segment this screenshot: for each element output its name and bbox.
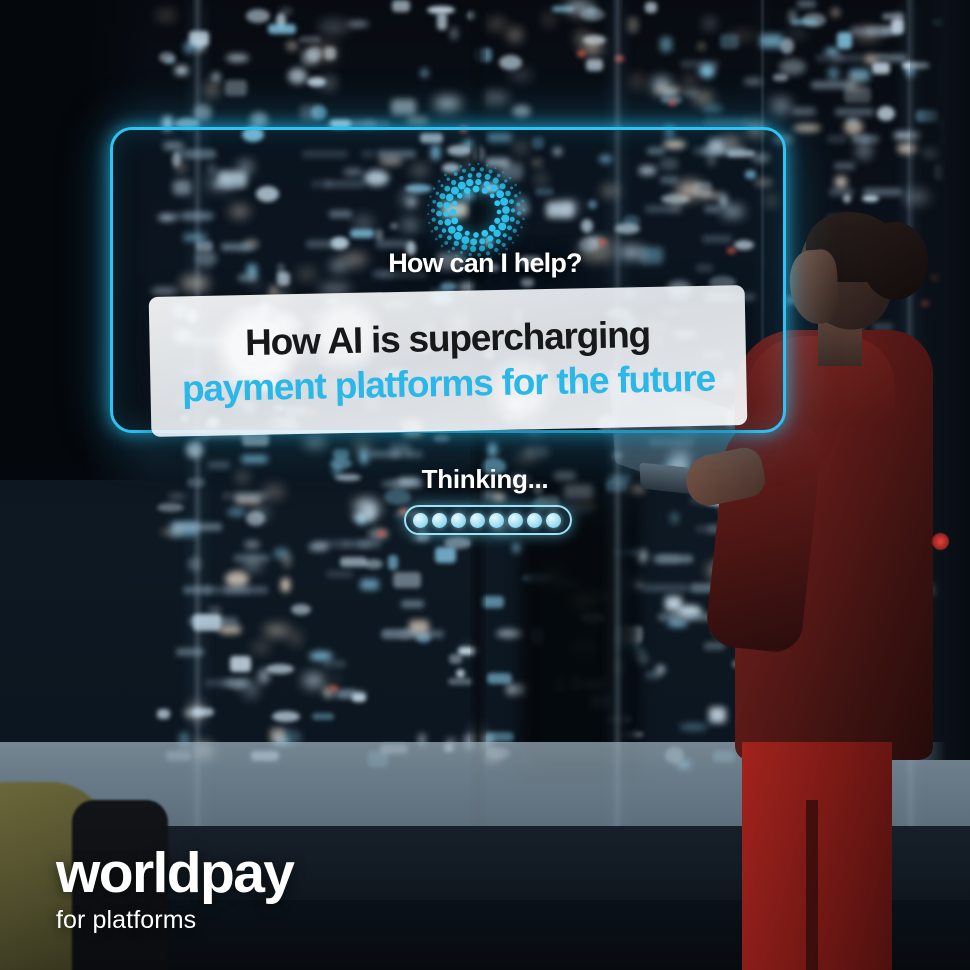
city-light — [320, 21, 347, 33]
progress-dot — [546, 513, 561, 528]
city-light — [157, 709, 170, 719]
city-light-accent — [577, 50, 586, 57]
city-light — [566, 2, 591, 12]
city-light — [311, 105, 327, 120]
city-light — [450, 27, 458, 40]
city-light — [212, 72, 220, 82]
city-light — [586, 59, 603, 71]
city-light — [628, 17, 638, 33]
person-leg-split — [806, 800, 818, 970]
city-light — [544, 12, 554, 27]
headline-line-2: payment platforms for the future — [182, 359, 716, 409]
progress-dot — [470, 513, 485, 528]
city-light — [437, 13, 447, 30]
city-light — [709, 707, 726, 723]
city-light — [392, 0, 410, 12]
red-indicator-light — [932, 533, 949, 550]
progress-dot — [413, 513, 428, 528]
city-light — [645, 2, 657, 13]
city-light — [246, 9, 270, 23]
city-light — [288, 68, 307, 84]
city-light — [156, 11, 176, 20]
city-light — [488, 19, 505, 29]
headline-card: How AI is supercharging payment platform… — [149, 285, 748, 437]
city-light — [272, 711, 300, 722]
promo-image-stage: How can I help? How AI is supercharging … — [0, 0, 970, 970]
city-light — [510, 71, 532, 79]
city-light — [280, 8, 292, 15]
headline-line-1: How AI is supercharging — [245, 315, 651, 362]
city-light — [307, 47, 322, 61]
city-light — [421, 69, 428, 77]
city-light — [299, 36, 321, 43]
city-light — [250, 112, 268, 128]
worldpay-logo: worldpay for platforms — [56, 845, 293, 935]
city-light — [449, 654, 462, 664]
assistant-status-label: Thinking... — [0, 464, 970, 495]
city-light — [482, 93, 509, 103]
city-light — [286, 41, 298, 51]
city-light — [427, 6, 455, 14]
progress-dot — [432, 513, 447, 528]
city-light — [268, 24, 296, 34]
city-light — [456, 669, 465, 678]
city-light — [705, 19, 714, 28]
city-light — [175, 66, 188, 75]
city-light — [660, 37, 672, 52]
city-light — [347, 21, 369, 27]
city-light — [488, 442, 497, 457]
city-light — [292, 631, 300, 646]
city-light — [225, 80, 247, 96]
city-light — [728, 32, 756, 39]
thinking-progress-bar — [404, 505, 572, 535]
city-light — [493, 494, 506, 501]
progress-dot — [489, 513, 504, 528]
progress-dot — [451, 513, 466, 528]
assistant-prompt-text: How can I help? — [0, 248, 970, 279]
logo-tagline: for platforms — [56, 906, 293, 935]
city-light — [512, 105, 531, 117]
progress-dot — [527, 513, 542, 528]
city-light — [281, 578, 290, 592]
city-light — [486, 732, 514, 742]
logo-brand-name: worldpay — [56, 845, 293, 902]
city-light — [391, 99, 416, 115]
city-light — [282, 554, 292, 568]
city-light — [499, 55, 522, 70]
city-light — [679, 723, 708, 731]
city-light — [270, 728, 285, 743]
city-light — [698, 43, 705, 50]
city-light — [434, 97, 461, 110]
city-light — [487, 673, 512, 684]
city-light — [226, 54, 249, 62]
city-light — [510, 30, 520, 40]
city-light — [206, 83, 218, 97]
progress-dot — [508, 513, 523, 528]
city-light — [159, 52, 175, 63]
city-light — [322, 78, 335, 88]
